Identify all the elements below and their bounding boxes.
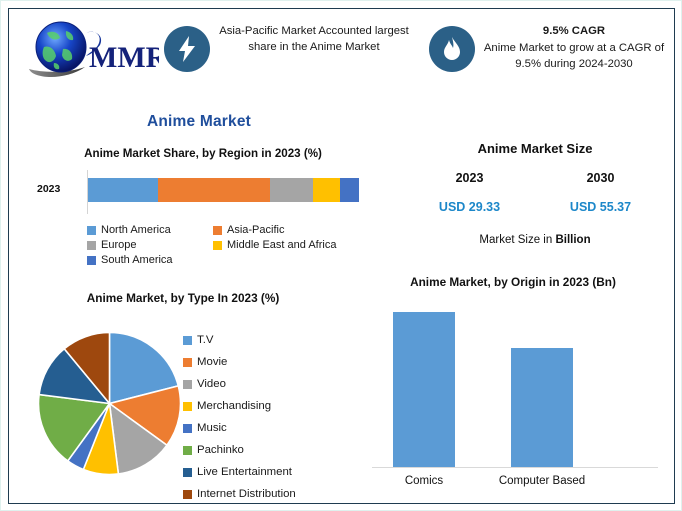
region-segment-0 — [88, 178, 158, 202]
origin-baseline — [372, 467, 658, 468]
origin-chart-title: Anime Market, by Origin in 2023 (Bn) — [354, 275, 672, 289]
region-legend-item: Europe — [87, 239, 213, 251]
pie-legend-item: Video — [183, 373, 343, 395]
pie-legend-label: Pachinko — [197, 444, 244, 456]
market-size-footer: Market Size in Billion — [404, 234, 666, 246]
header-card-2-text: 9.5% CAGR Anime Market to grow at a CAGR… — [475, 17, 669, 72]
pie-legend-label: Video — [197, 378, 226, 390]
header-card-2-body: Anime Market to grow at a CAGR of 9.5% d… — [484, 42, 664, 70]
logo-wordmark: MMR — [89, 41, 159, 74]
region-share-chart: Anime Market Share, by Region in 2023 (%… — [17, 147, 389, 283]
market-size-year-2030: 2030 — [535, 171, 666, 185]
origin-label-1: Computer Based — [499, 475, 585, 487]
pie-legend-label: Live Entertainment — [197, 466, 292, 478]
header-card-asia-pacific: Asia-Pacific Market Accounted largest sh… — [164, 17, 414, 91]
pie-legend-label: Music — [197, 422, 227, 434]
origin-bar-1 — [511, 348, 573, 467]
region-legend-label: Middle East and Africa — [227, 239, 336, 251]
region-legend-label: South America — [101, 254, 173, 266]
pie-legend-label: Movie — [197, 356, 227, 368]
pie-legend-item: Movie — [183, 351, 343, 373]
pie-legend-item: Pachinko — [183, 439, 343, 461]
header-card-1-text: Asia-Pacific Market Accounted largest sh… — [210, 17, 414, 55]
legend-swatch-icon — [183, 358, 192, 367]
header: MMR Asia-Pacific Market Accounted larges… — [9, 9, 674, 97]
market-size-footer-unit: Billion — [555, 234, 590, 246]
region-segment-1 — [158, 178, 269, 202]
mmr-logo: MMR — [23, 15, 159, 87]
header-card-cagr: 9.5% CAGR Anime Market to grow at a CAGR… — [429, 17, 669, 91]
region-legend-label: Asia-Pacific — [227, 224, 284, 236]
pie-legend-label: Internet Distribution — [197, 488, 296, 500]
region-chart-title: Anime Market Share, by Region in 2023 (%… — [17, 147, 389, 160]
legend-swatch-icon — [183, 446, 192, 455]
legend-swatch-icon — [87, 241, 96, 250]
region-legend-label: North America — [101, 224, 171, 236]
region-legend-item: Asia-Pacific — [213, 224, 363, 236]
legend-swatch-icon — [213, 226, 222, 235]
region-segment-2 — [270, 178, 313, 202]
globe-icon: MMR — [23, 15, 159, 87]
region-category-label: 2023 — [37, 183, 60, 195]
origin-label-0: Comics — [405, 475, 443, 487]
market-size-footer-prefix: Market Size in — [479, 234, 555, 246]
legend-swatch-icon — [183, 336, 192, 345]
origin-bar-0 — [393, 312, 455, 467]
page-title: Anime Market — [9, 113, 389, 131]
market-size-column-2023: 2023 USD 29.33 — [404, 171, 535, 214]
infographic-frame: MMR Asia-Pacific Market Accounted larges… — [8, 8, 675, 504]
bolt-icon — [164, 26, 210, 72]
legend-swatch-icon — [87, 226, 96, 235]
market-size-value-2023: USD 29.33 — [404, 200, 535, 214]
region-segment-3 — [313, 178, 340, 202]
region-legend-item: South America — [87, 254, 213, 266]
origin-plot-area — [354, 303, 672, 468]
pie-chart-title: Anime Market, by Type In 2023 (%) — [15, 291, 345, 305]
market-size-columns: 2023 USD 29.33 2030 USD 55.37 — [404, 171, 666, 214]
header-card-1-body: Asia-Pacific Market Accounted largest sh… — [219, 25, 409, 53]
legend-swatch-icon — [183, 402, 192, 411]
legend-swatch-icon — [183, 424, 192, 433]
pie-body: T.VMovieVideoMerchandisingMusicPachinkoL… — [15, 311, 345, 501]
region-legend-item: North America — [87, 224, 213, 236]
type-share-chart: Anime Market, by Type In 2023 (%) T.VMov… — [15, 291, 345, 503]
legend-swatch-icon — [183, 490, 192, 499]
market-size-value-2030: USD 55.37 — [535, 200, 666, 214]
legend-swatch-icon — [183, 468, 192, 477]
pie-legend: T.VMovieVideoMerchandisingMusicPachinkoL… — [183, 329, 343, 505]
market-size-panel: Anime Market Size 2023 USD 29.33 2030 US… — [404, 141, 666, 266]
legend-swatch-icon — [213, 241, 222, 250]
pie-legend-item: Live Entertainment — [183, 461, 343, 483]
pie-legend-item: Internet Distribution — [183, 483, 343, 505]
pie-legend-item: Music — [183, 417, 343, 439]
header-card-2-headline: 9.5% CAGR — [481, 23, 667, 39]
region-legend-item: Middle East and Africa — [213, 239, 363, 251]
pie-legend-item: T.V — [183, 329, 343, 351]
region-legend-label: Europe — [101, 239, 136, 251]
origin-bar-chart: Anime Market, by Origin in 2023 (Bn) Com… — [354, 275, 672, 503]
origin-category-labels: ComicsComputer Based — [354, 475, 672, 495]
market-size-title: Anime Market Size — [404, 141, 666, 156]
legend-swatch-icon — [183, 380, 192, 389]
pie-graphic — [37, 331, 182, 476]
region-stacked-bar — [88, 178, 359, 202]
region-segment-4 — [340, 178, 359, 202]
flame-icon — [429, 26, 475, 72]
market-size-year-2023: 2023 — [404, 171, 535, 185]
pie-legend-item: Merchandising — [183, 395, 343, 417]
infographic-root: MMR Asia-Pacific Market Accounted larges… — [0, 0, 682, 511]
legend-swatch-icon — [87, 256, 96, 265]
pie-legend-label: T.V — [197, 334, 213, 346]
region-plot-area: 2023 — [25, 170, 389, 214]
market-size-column-2030: 2030 USD 55.37 — [535, 171, 666, 214]
region-legend: North AmericaAsia-PacificEuropeMiddle Ea… — [87, 224, 362, 266]
pie-legend-label: Merchandising — [197, 400, 271, 412]
